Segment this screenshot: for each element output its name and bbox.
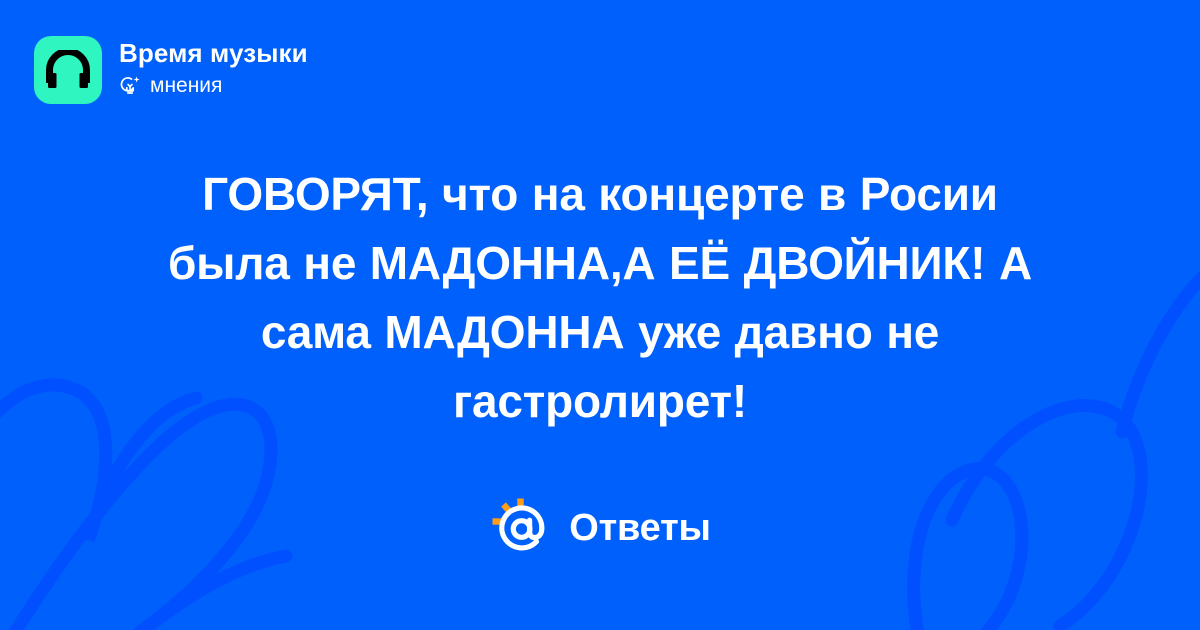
share-card: Время музыки мнения ГОВОРЯТ, что на конц… bbox=[0, 0, 1200, 630]
brand-name: Время музыки bbox=[119, 38, 308, 68]
brand-logo bbox=[34, 36, 102, 104]
brand-tag-label: мнения bbox=[150, 74, 222, 98]
headphones-icon bbox=[45, 50, 91, 90]
brand-tag: мнения bbox=[119, 74, 308, 98]
headline-line: сама МАДОННА уже давно не bbox=[90, 298, 1110, 367]
brand-text-block: Время музыки мнения bbox=[119, 36, 308, 98]
headline-line: ГОВОРЯТ, что на концерте в Росии bbox=[90, 160, 1110, 229]
service-name: Ответы bbox=[569, 506, 711, 550]
lightbulb-sparkle-icon bbox=[119, 75, 141, 97]
service-footer: Ответы bbox=[0, 495, 1200, 561]
headline-line: была не МАДОННА,А ЕЁ ДВОЙНИК! А bbox=[90, 229, 1110, 298]
page-title: ГОВОРЯТ, что на концерте в Росии была не… bbox=[90, 160, 1110, 436]
headline-line: гастролирет! bbox=[90, 367, 1110, 436]
brand-header: Время музыки мнения bbox=[34, 36, 308, 104]
at-sign-rays-icon bbox=[489, 495, 555, 561]
